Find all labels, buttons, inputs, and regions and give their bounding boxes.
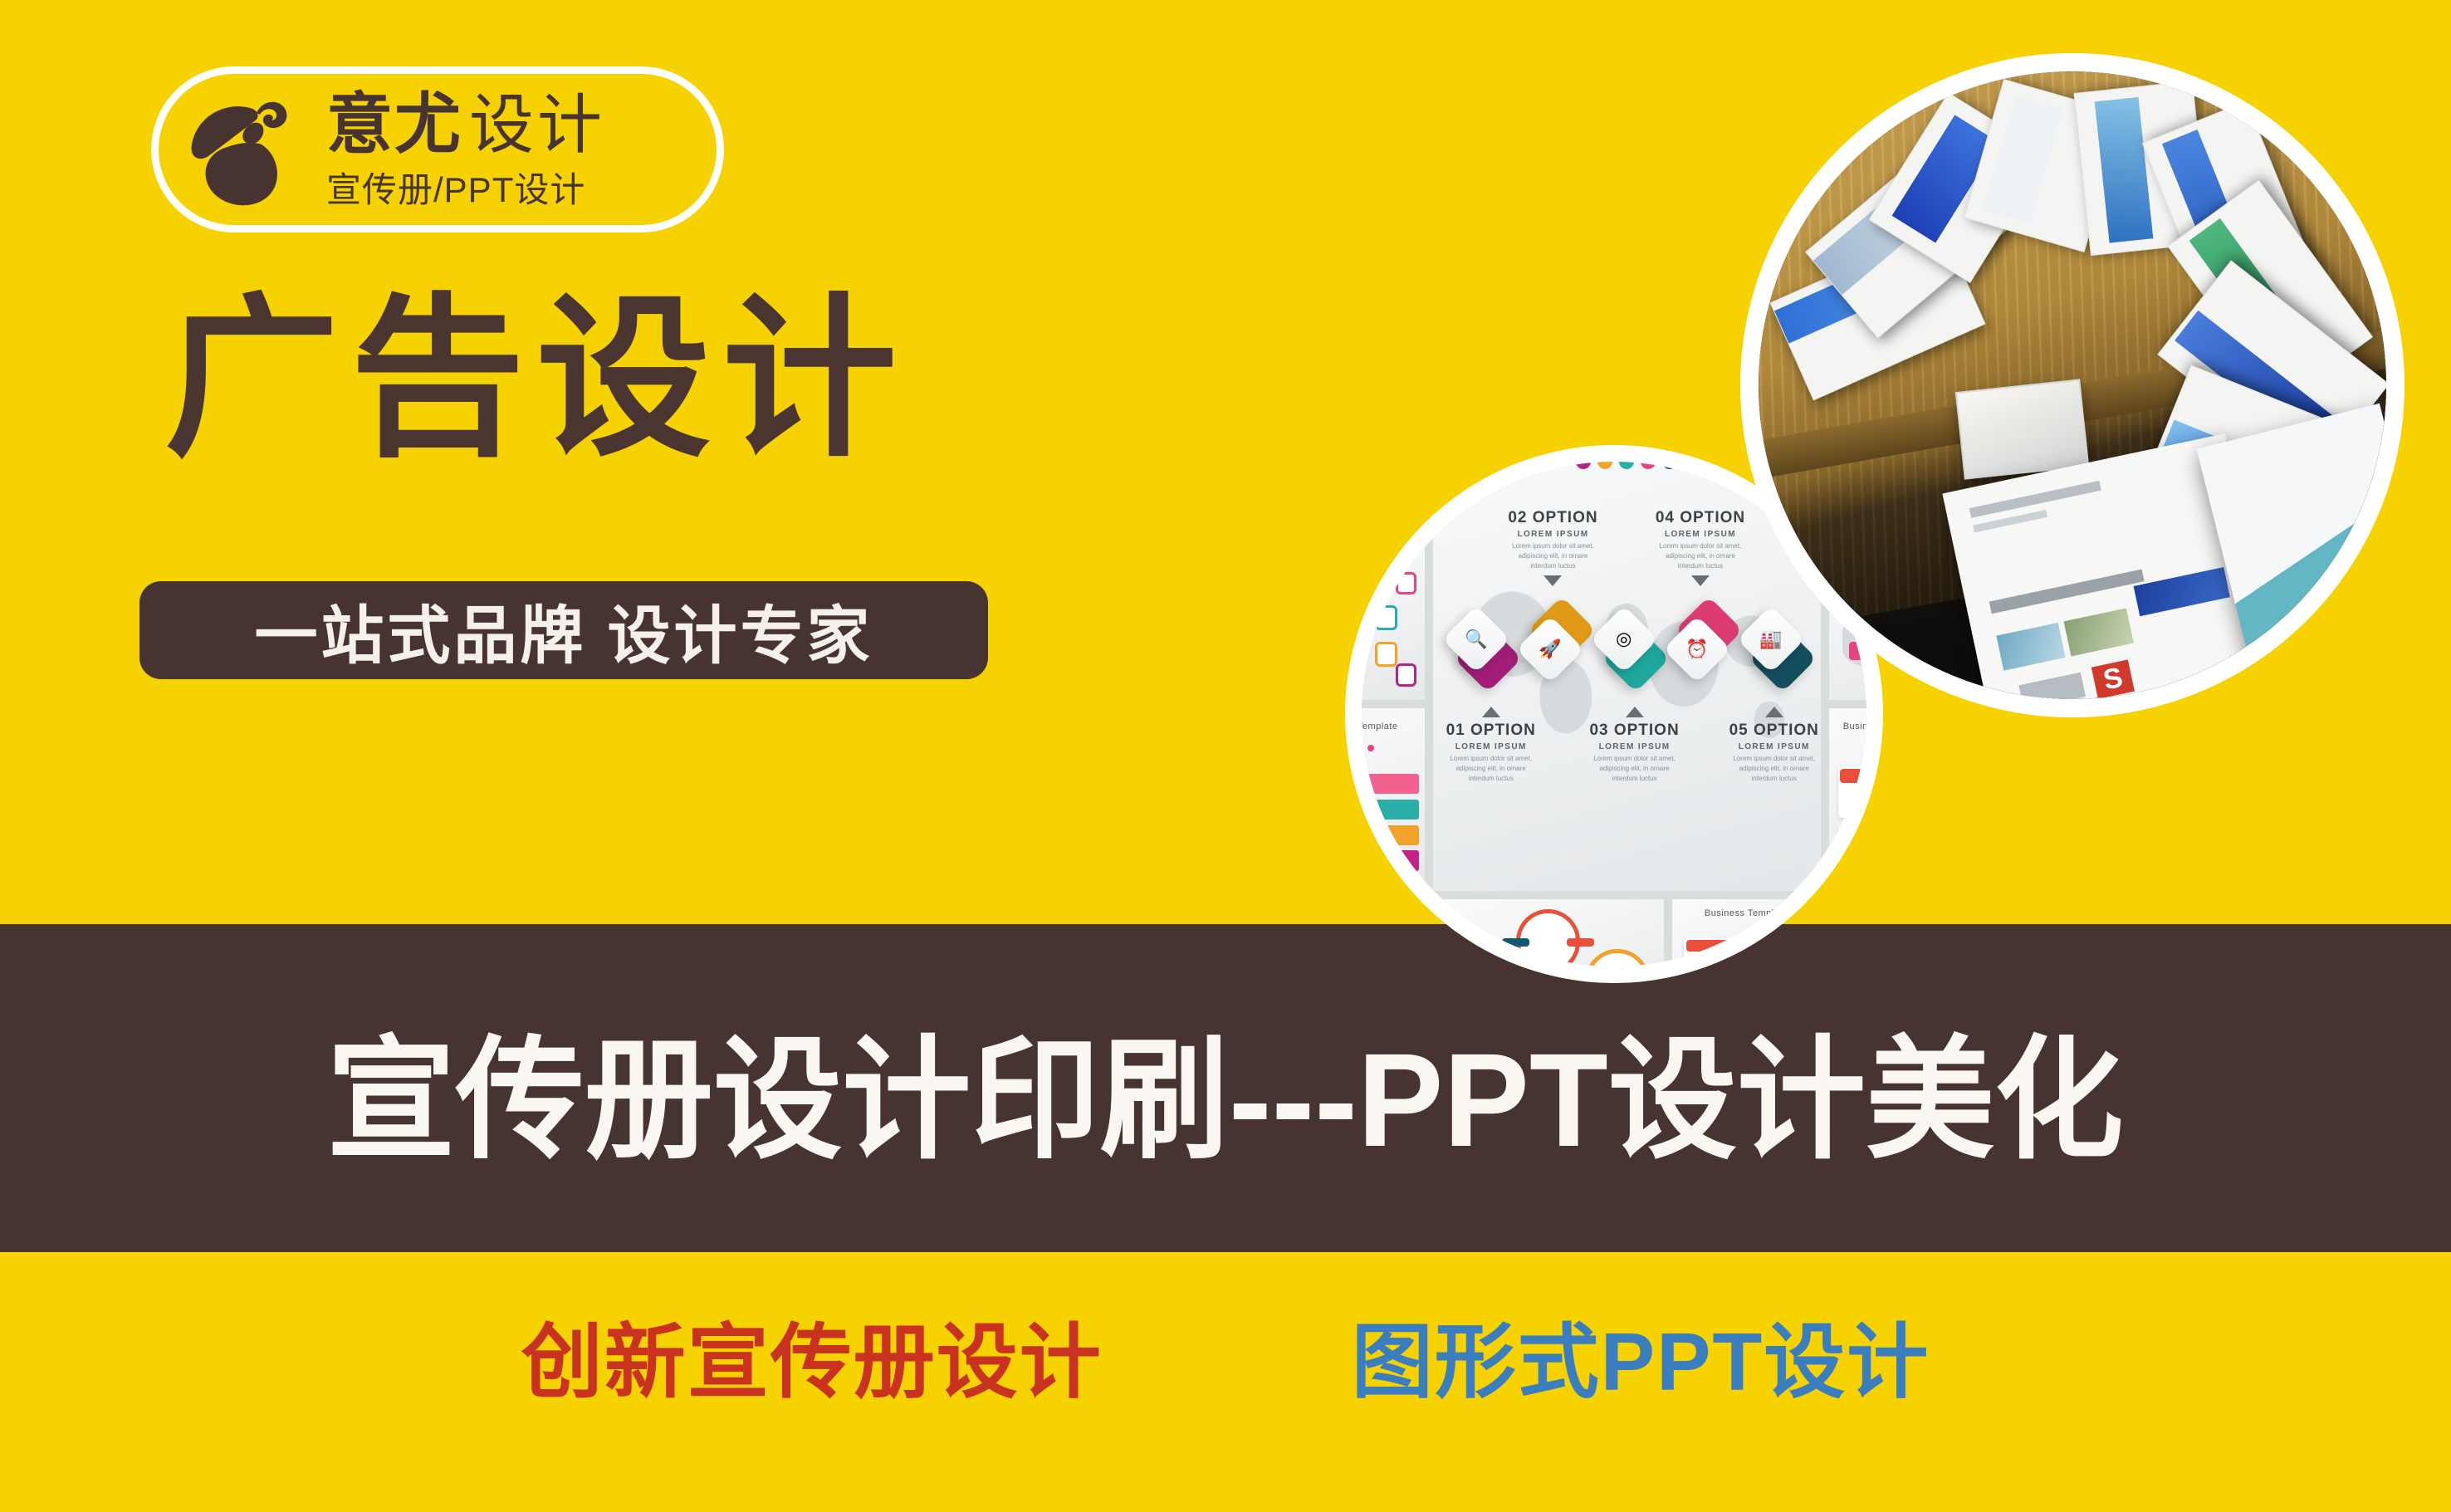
magnifier-icon: 🔍: [1465, 630, 1487, 648]
option-03-body: Lorem ipsum dolor sit amet, adipiscing e…: [1588, 754, 1681, 784]
option-01-body: Lorem ipsum dolor sit amet, adipiscing e…: [1445, 754, 1538, 784]
thumbnail-ribbon-bottom-slide: Business Template: [1362, 899, 1425, 966]
option-04-num: 04 OPTION: [1654, 509, 1747, 527]
thumbnail-cross-node-slide: [1362, 547, 1425, 700]
option-01: 01 OPTION LOREM IPSUM Lorem ipsum dolor …: [1445, 702, 1538, 784]
thumb-title: Business Template: [1829, 722, 1866, 732]
thumbnail-step-card-bottom-slide: Business Template: [1672, 899, 1821, 966]
band-headline-wrapper: 宣传册设计印刷---PPT设计美化: [0, 924, 2451, 1252]
business-card-holder: [1955, 379, 2089, 479]
target-icon: ◎: [1386, 493, 1394, 505]
photo-inner: S: [1759, 71, 2386, 699]
factory-icon: 🏭: [1759, 630, 1782, 648]
clock-icon: ⏰: [1686, 640, 1709, 658]
rocket-icon: 🚀: [1539, 640, 1561, 658]
thumb-title: Business Template: [1672, 908, 1821, 918]
option-01-num: 01 OPTION: [1445, 722, 1538, 740]
option-04: 04 OPTION LOREM IPSUM Lorem ipsum dolor …: [1654, 509, 1747, 590]
tagline-text: 一站式品牌 设计专家: [254, 585, 873, 676]
advertising-banner: 意尤 设计 宣传册/PPT设计 广告设计 一站式品牌 设计专家 宣传册设计印刷-…: [0, 0, 2451, 1512]
option-05-lorem: LOREM IPSUM: [1728, 742, 1821, 751]
band-headline-text: 宣传册设计印刷---PPT设计美化: [327, 992, 2124, 1185]
printed-brochures-photo: S: [1740, 53, 2405, 717]
brand-logo-lockup[interactable]: 意尤 设计 宣传册/PPT设计: [151, 66, 724, 232]
page-title: 广告设计: [164, 292, 908, 467]
tag-brochure-design: 创新宣传册设计: [521, 1296, 1103, 1414]
option-02-lorem: LOREM IPSUM: [1506, 530, 1599, 539]
bird-leaf-logo-icon: [174, 80, 313, 219]
logo-subtitle: 宣传册/PPT设计: [326, 173, 605, 208]
thumbnail-ribbon-list-slide: ⌂ ◎: [1362, 462, 1425, 539]
option-03: 03 OPTION LOREM IPSUM Lorem ipsum dolor …: [1588, 702, 1681, 784]
option-03-lorem: LOREM IPSUM: [1588, 742, 1681, 751]
option-02-body: Lorem ipsum dolor sit amet, adipiscing e…: [1506, 541, 1599, 571]
triangle-up-icon: [1626, 707, 1644, 717]
thumbnail-cone-funnel-slide: Business Template: [1362, 708, 1425, 891]
triangle-down-icon: [1691, 575, 1710, 586]
logo-name-row: 意尤 设计: [326, 91, 605, 168]
option-03-num: 03 OPTION: [1588, 722, 1681, 740]
red-seal-stamp: S: [2091, 659, 2135, 699]
thumbnail-four-step-card-slide: Business Template: [1829, 708, 1866, 891]
thumbnail-map-bottom-slide: Business: [1829, 899, 1866, 966]
bottom-tag-row: 创新宣传册设计 图形式PPT设计: [0, 1255, 2451, 1455]
thumbnail-circle-cycle-slide: [1433, 899, 1664, 966]
palette-dots: [1362, 745, 1425, 751]
palette-dots: [1829, 745, 1866, 751]
triangle-up-icon: [1482, 707, 1500, 717]
thumb-title: Business: [1829, 908, 1866, 918]
tag-ppt-design: 图形式PPT设计: [1352, 1296, 1930, 1414]
option-05-body: Lorem ipsum dolor sit amet, adipiscing e…: [1728, 754, 1821, 784]
target-icon: ◎: [1616, 630, 1632, 648]
tagline-pill: 一站式品牌 设计专家: [139, 581, 988, 679]
option-04-body: Lorem ipsum dolor sit amet, adipiscing e…: [1654, 541, 1747, 571]
thumb-title: Business Template: [1362, 908, 1425, 918]
logo-text-block: 意尤 设计 宣传册/PPT设计: [326, 91, 605, 208]
option-05-num: 05 OPTION: [1728, 722, 1821, 740]
option-01-lorem: LOREM IPSUM: [1445, 742, 1538, 751]
thumb-title: Business Template: [1362, 722, 1425, 732]
triangle-down-icon: [1543, 575, 1562, 586]
option-04-lorem: LOREM IPSUM: [1654, 530, 1747, 539]
logo-name-bold: 意尤: [326, 91, 462, 158]
option-02: 02 OPTION LOREM IPSUM Lorem ipsum dolor …: [1506, 509, 1599, 590]
palette-dots: [1362, 925, 1425, 932]
option-02-num: 02 OPTION: [1506, 509, 1599, 527]
triangle-up-icon: [1765, 707, 1783, 717]
home-icon: ⌂: [1386, 472, 1392, 484]
option-05: 05 OPTION LOREM IPSUM Lorem ipsum dolor …: [1728, 702, 1821, 784]
logo-name-light: 设计: [469, 92, 605, 157]
